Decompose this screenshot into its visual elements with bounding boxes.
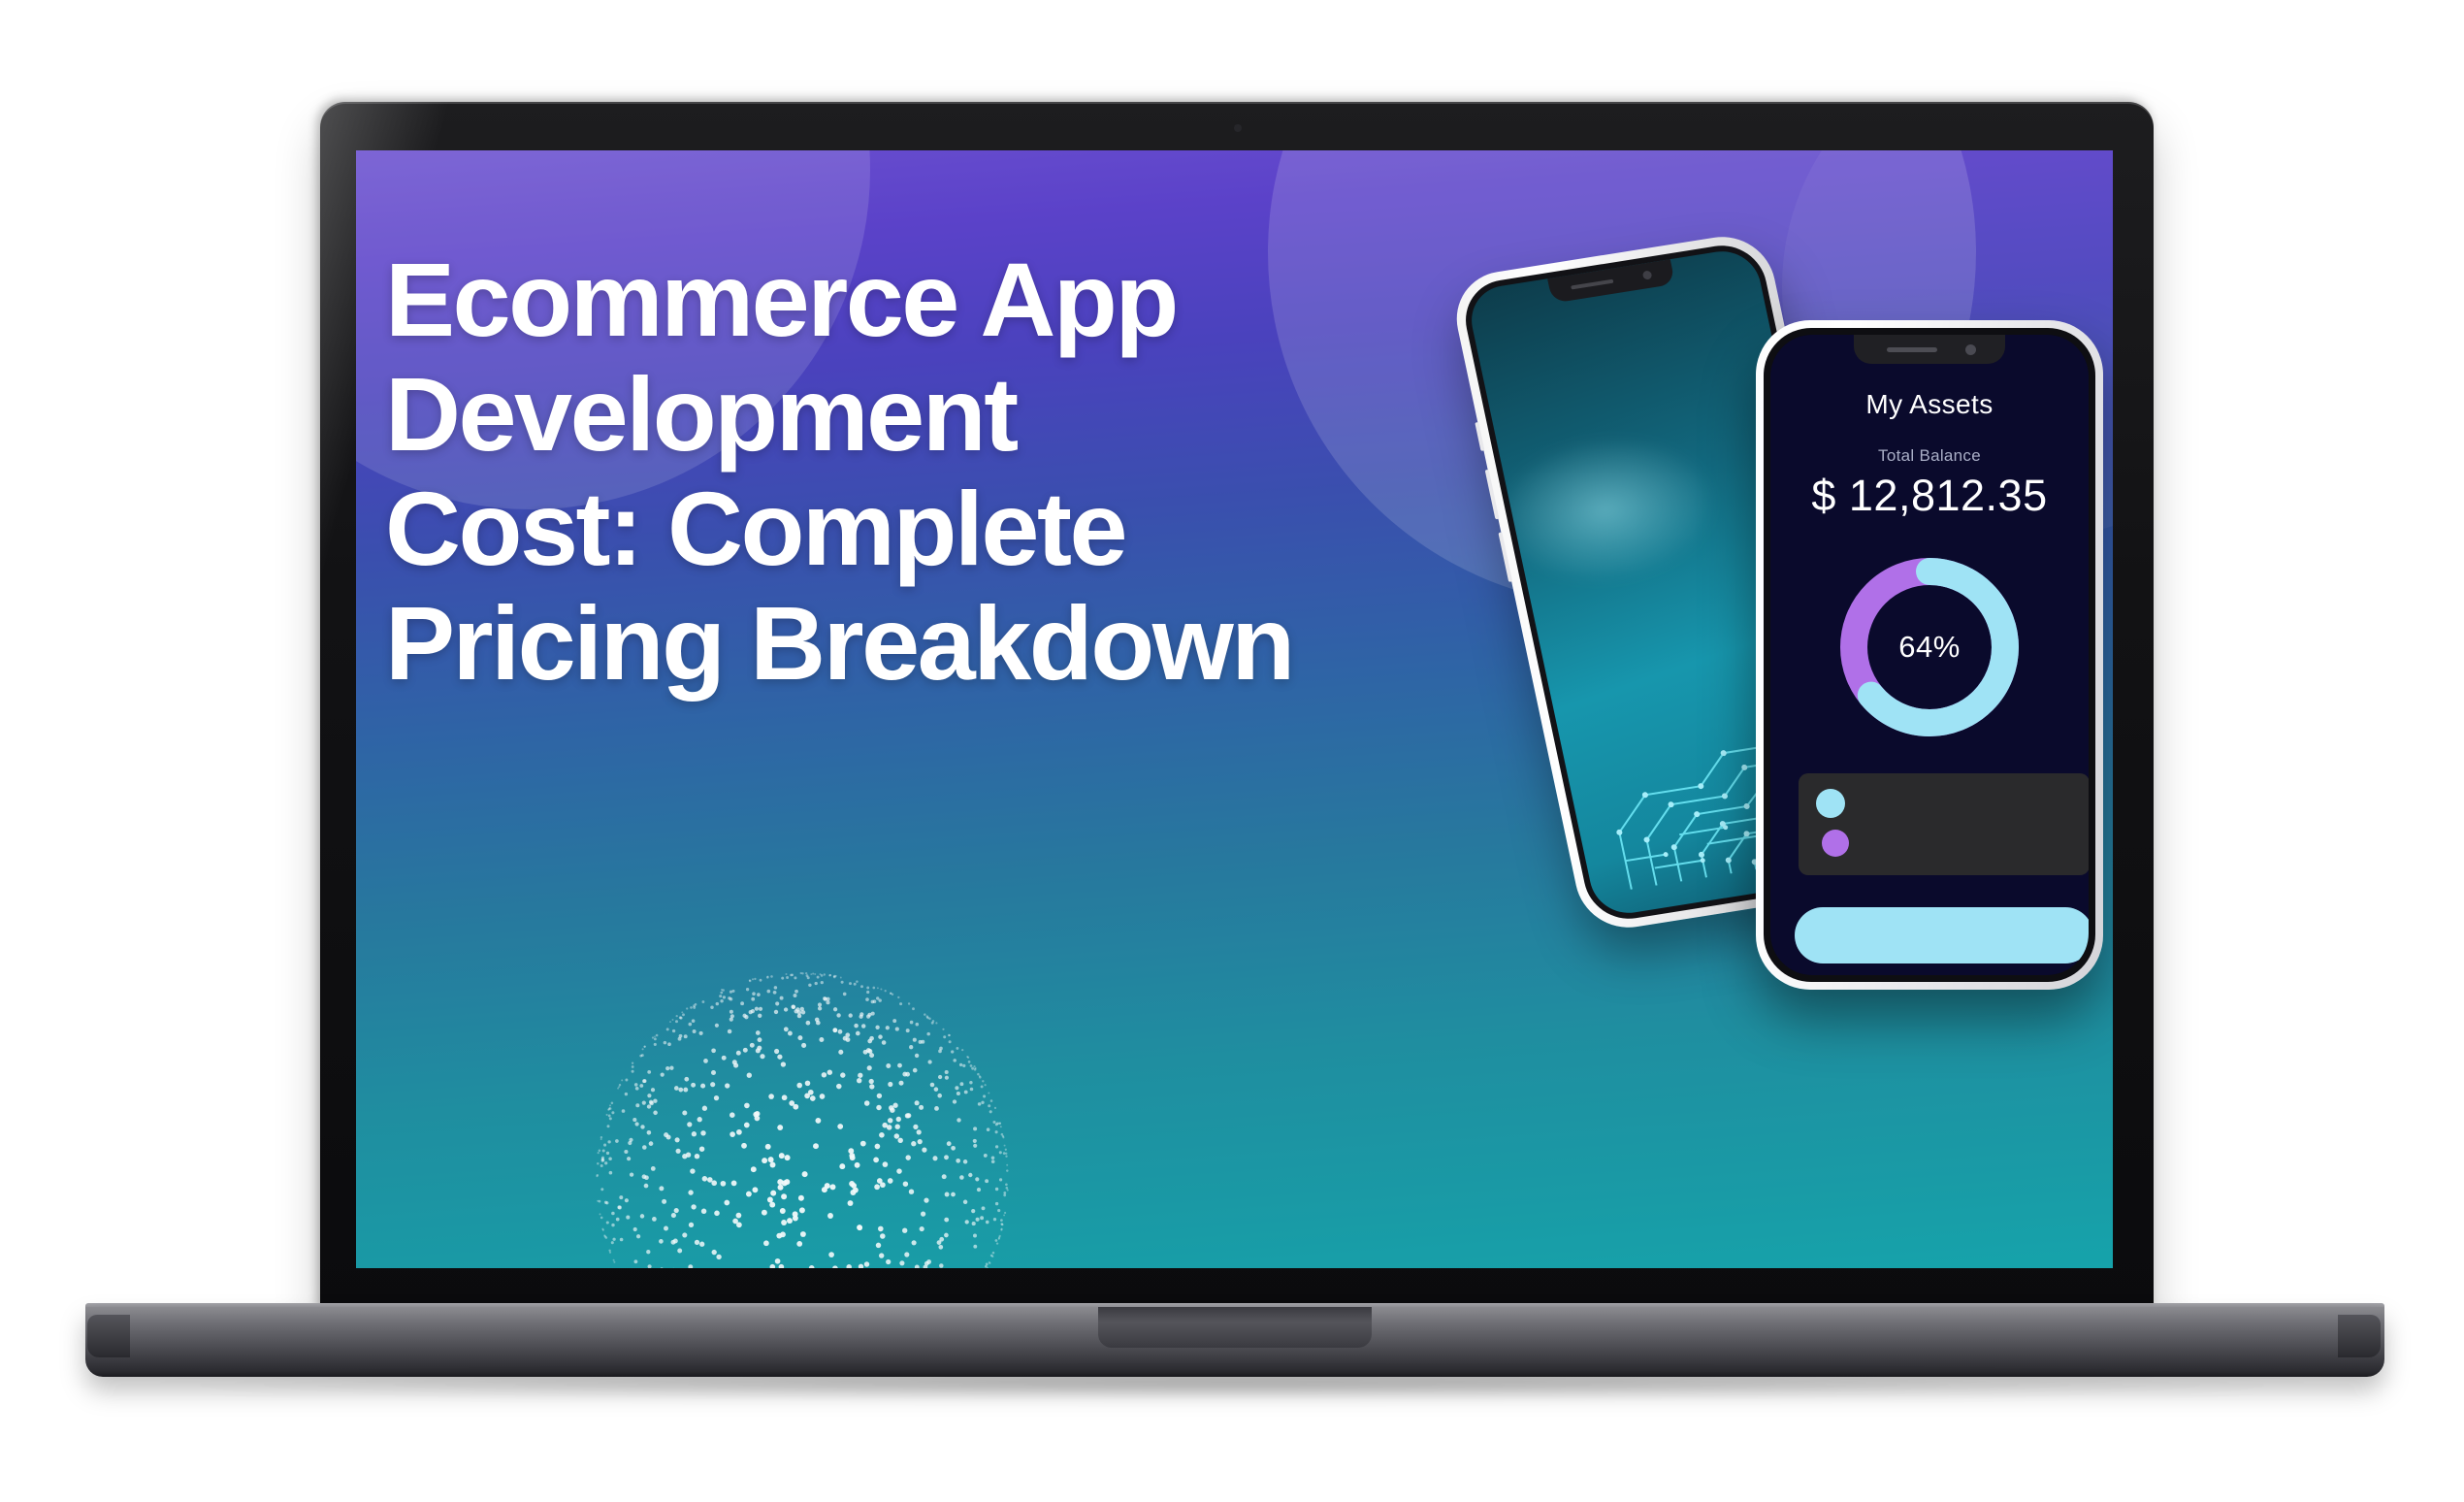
phone-front-screen: My Assets Total Balance $ 12,812.35 64%: [1770, 335, 2089, 975]
legend-card: [1799, 773, 2089, 875]
laptop-base-notch: [1098, 1307, 1372, 1348]
screenshot-stage: Ecommerce App Development Cost: Complete…: [0, 0, 2464, 1502]
phone-notch-icon: [1854, 335, 2005, 364]
laptop-foot-right: [2338, 1315, 2381, 1357]
slide-headline: Ecommerce App Development Cost: Complete…: [385, 247, 1549, 696]
phone-front-bezel: My Assets Total Balance $ 12,812.35 64%: [1764, 328, 2095, 982]
app-title: My Assets: [1770, 389, 2089, 420]
legend-dot-secondary-icon: [1822, 830, 1849, 857]
legend-dot-primary-icon: [1816, 789, 1845, 818]
assets-donut-chart: 64%: [1832, 550, 2026, 744]
laptop-mockup: Ecommerce App Development Cost: Complete…: [0, 0, 2464, 1502]
headline-line-3: Cost: Complete: [385, 476, 1549, 581]
phone-back-notch-icon: [1547, 259, 1675, 303]
headline-line-4: Pricing Breakdown: [385, 591, 1549, 696]
laptop-drop-shadow: [146, 1372, 2318, 1397]
primary-cta-button[interactable]: [1795, 907, 2089, 963]
laptop-foot-left: [87, 1315, 130, 1357]
dotted-sphere-decoration: [589, 965, 1016, 1268]
donut-center-label: 64%: [1832, 550, 2026, 744]
balance-value: $ 12,812.35: [1770, 471, 2089, 521]
phone-back-glow: [1480, 421, 1732, 599]
headline-line-2: Development: [385, 362, 1549, 467]
headline-line-1: Ecommerce App: [385, 247, 1549, 352]
webcam-icon: [1234, 124, 1242, 132]
balance-label: Total Balance: [1770, 446, 2089, 466]
phone-mockup-front: My Assets Total Balance $ 12,812.35 64%: [1756, 320, 2103, 990]
laptop-screen: Ecommerce App Development Cost: Complete…: [356, 150, 2113, 1268]
